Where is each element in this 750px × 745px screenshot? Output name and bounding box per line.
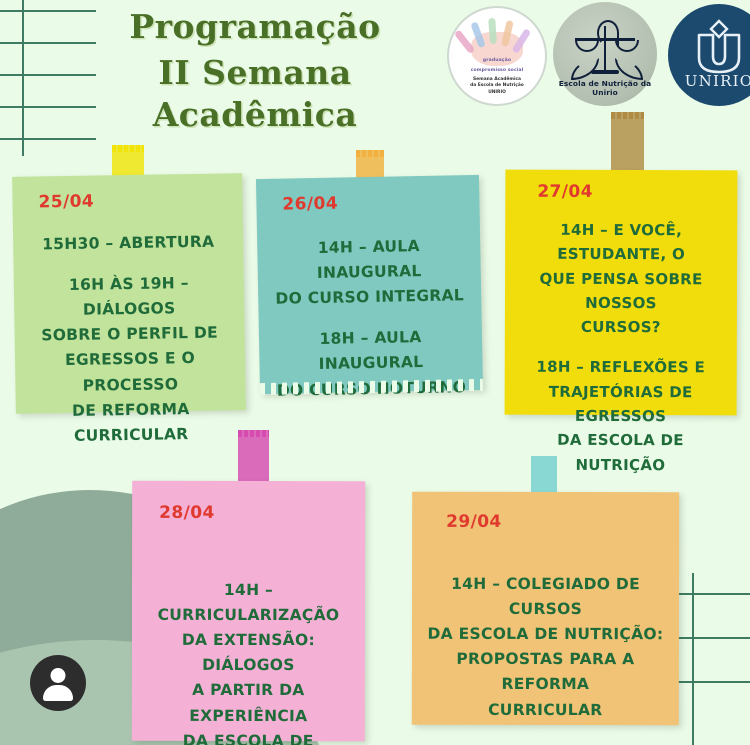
card-block: 14H – E VOCÊ, ESTUDANTE, O QUE PENSA SOB… — [513, 218, 729, 340]
card-block: 15H30 – ABERTURA — [21, 229, 235, 257]
card-line: 14H – E VOCÊ, ESTUDANTE, O — [513, 218, 729, 267]
logo-center-word-2: compromisso social — [449, 68, 545, 73]
logo-caption-line3: UNIRIO — [449, 90, 545, 96]
card-line: 14H – COLEGIADO DE CURSOS — [420, 572, 671, 623]
logo-caption: Semana Acadêmica da Escola de Nutrição U… — [449, 77, 545, 96]
seal-text: Escola de Nutrição da Unirio — [553, 79, 657, 97]
card-body: 14H – E VOCÊ, ESTUDANTE, O QUE PENSA SOB… — [504, 218, 737, 478]
card-line: DA ESCOLA DE NUTRIÇÃO — [140, 728, 357, 745]
card-body: 14H – CURRICULARIZAÇÃO DA EXTENSÃO: DIÁL… — [132, 578, 365, 745]
card-date: 28/04 — [159, 503, 215, 523]
card-block: 14H – COLEGIADO DE CURSOS DA ESCOLA DE N… — [420, 572, 671, 723]
logo-group: graduação compromisso social Semana Acad… — [447, 2, 750, 110]
avatar-head — [51, 668, 66, 683]
schedule-card-29-04[interactable]: 29/04 14H – COLEGIADO DE CURSOS DA ESCOL… — [412, 492, 679, 725]
card-line: 16H ÀS 19H – DIÁLOGOS — [22, 270, 237, 324]
poster-canvas: Programação II Semana Acadêmica graduaçã… — [0, 0, 750, 745]
poster-header: Programação II Semana Acadêmica graduaçã… — [0, 0, 750, 112]
card-line: 18H – REFLEXÕES E — [513, 355, 729, 380]
escola-de-nutricao-seal: Escola de Nutrição da Unirio — [553, 2, 657, 106]
card-date: 29/04 — [446, 512, 502, 532]
card-line: PROPOSTAS PARA A REFORMA — [420, 647, 671, 698]
card-date: 25/04 — [38, 192, 94, 213]
schedule-card-26-04[interactable]: 26/04 14H – AULA INAUGURAL DO CURSO INTE… — [256, 175, 483, 394]
schedule-card-25-04[interactable]: 25/04 15H30 – ABERTURA 16H ÀS 19H – DIÁL… — [12, 173, 246, 414]
title-group: Programação II Semana Acadêmica — [60, 6, 450, 137]
card-block: 16H ÀS 19H – DIÁLOGOS SOBRE O PERFIL DE … — [22, 270, 239, 449]
card-date: 26/04 — [282, 194, 338, 215]
card-line: EGRESSOS E O PROCESSO — [23, 346, 238, 400]
card-line: DO CURSO INTEGRAL — [266, 283, 473, 312]
laurel-right-icon — [615, 58, 643, 80]
card-line: CURSOS? — [513, 315, 729, 340]
card-line: 18H – AULA INAUGURAL — [267, 324, 475, 378]
unirio-wordmark: UNIRIO — [668, 72, 750, 90]
card-line: SOBRE O PERFIL DE — [22, 321, 236, 349]
card-line: 14H – CURRICULARIZAÇÃO — [140, 578, 357, 629]
laurel-left-icon — [571, 58, 599, 80]
card-body: 15H30 – ABERTURA 16H ÀS 19H – DIÁLOGOS S… — [13, 229, 246, 449]
schedule-card-27-04[interactable]: 27/04 14H – E VOCÊ, ESTUDANTE, O QUE PEN… — [505, 170, 738, 416]
card-date: 27/04 — [537, 182, 593, 202]
card-line: A PARTIR DA EXPERIÊNCIA — [140, 678, 357, 729]
logo-center-word: graduação — [449, 58, 545, 63]
card-line: 14H – AULA INAUGURAL — [265, 233, 473, 287]
card-line: DE REFORMA CURRICULAR — [24, 396, 239, 450]
person-icon[interactable] — [30, 655, 86, 711]
card-line: TRAJETÓRIAS DE EGRESSOS — [513, 379, 729, 428]
unirio-logo: UNIRIO — [668, 4, 750, 106]
semana-academica-logo: graduação compromisso social Semana Acad… — [447, 6, 547, 106]
page-title-line1: Programação — [60, 6, 450, 48]
card-line: QUE PENSA SOBRE NOSSOS — [513, 266, 729, 315]
avatar-body — [43, 685, 73, 701]
unirio-mark-icon — [690, 18, 748, 80]
card-body: 14H – AULA INAUGURAL DO CURSO INTEGRAL 1… — [257, 233, 483, 404]
card-line: DA EXTENSÃO: DIÁLOGOS — [140, 628, 357, 679]
card-line: 15H30 – ABERTURA — [21, 229, 235, 257]
card-block: 14H – CURRICULARIZAÇÃO DA EXTENSÃO: DIÁL… — [140, 578, 357, 745]
card-line: DA ESCOLA DE NUTRIÇÃO: — [420, 622, 671, 648]
page-title-line2: II Semana Acadêmica — [60, 52, 450, 136]
card-body: 14H – COLEGIADO DE CURSOS DA ESCOLA DE N… — [412, 572, 679, 723]
card-line: CURRICULAR — [420, 697, 671, 723]
schedule-card-28-04[interactable]: 28/04 14H – CURRICULARIZAÇÃO DA EXTENSÃO… — [132, 481, 365, 741]
card-block: 14H – AULA INAUGURAL DO CURSO INTEGRAL — [265, 233, 473, 312]
scales-of-justice-icon — [553, 18, 657, 74]
